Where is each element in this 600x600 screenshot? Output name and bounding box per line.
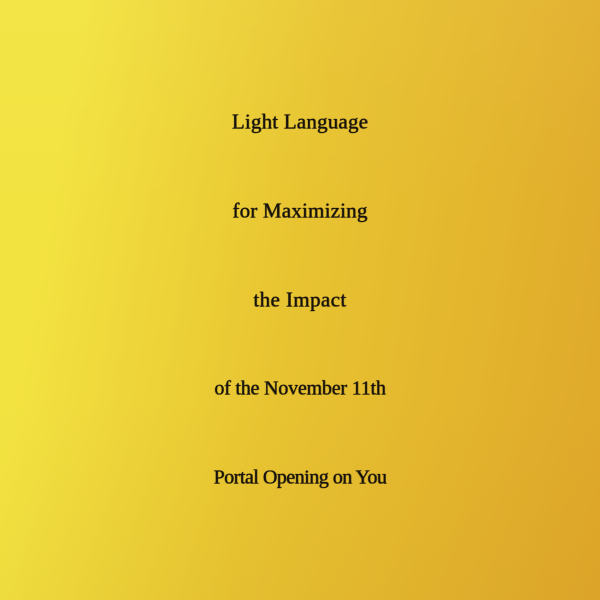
- title-line-2: for Maximizing: [4, 167, 596, 256]
- title-block: Light Language for Maximizing the Impact…: [0, 78, 600, 523]
- title-line-3: the Impact: [4, 256, 596, 345]
- title-card: Light Language for Maximizing the Impact…: [0, 0, 600, 600]
- title-line-1: Light Language: [4, 78, 596, 167]
- title-line-5: Portal Opening on You: [4, 434, 596, 523]
- title-line-4: of the November 11th: [4, 345, 596, 434]
